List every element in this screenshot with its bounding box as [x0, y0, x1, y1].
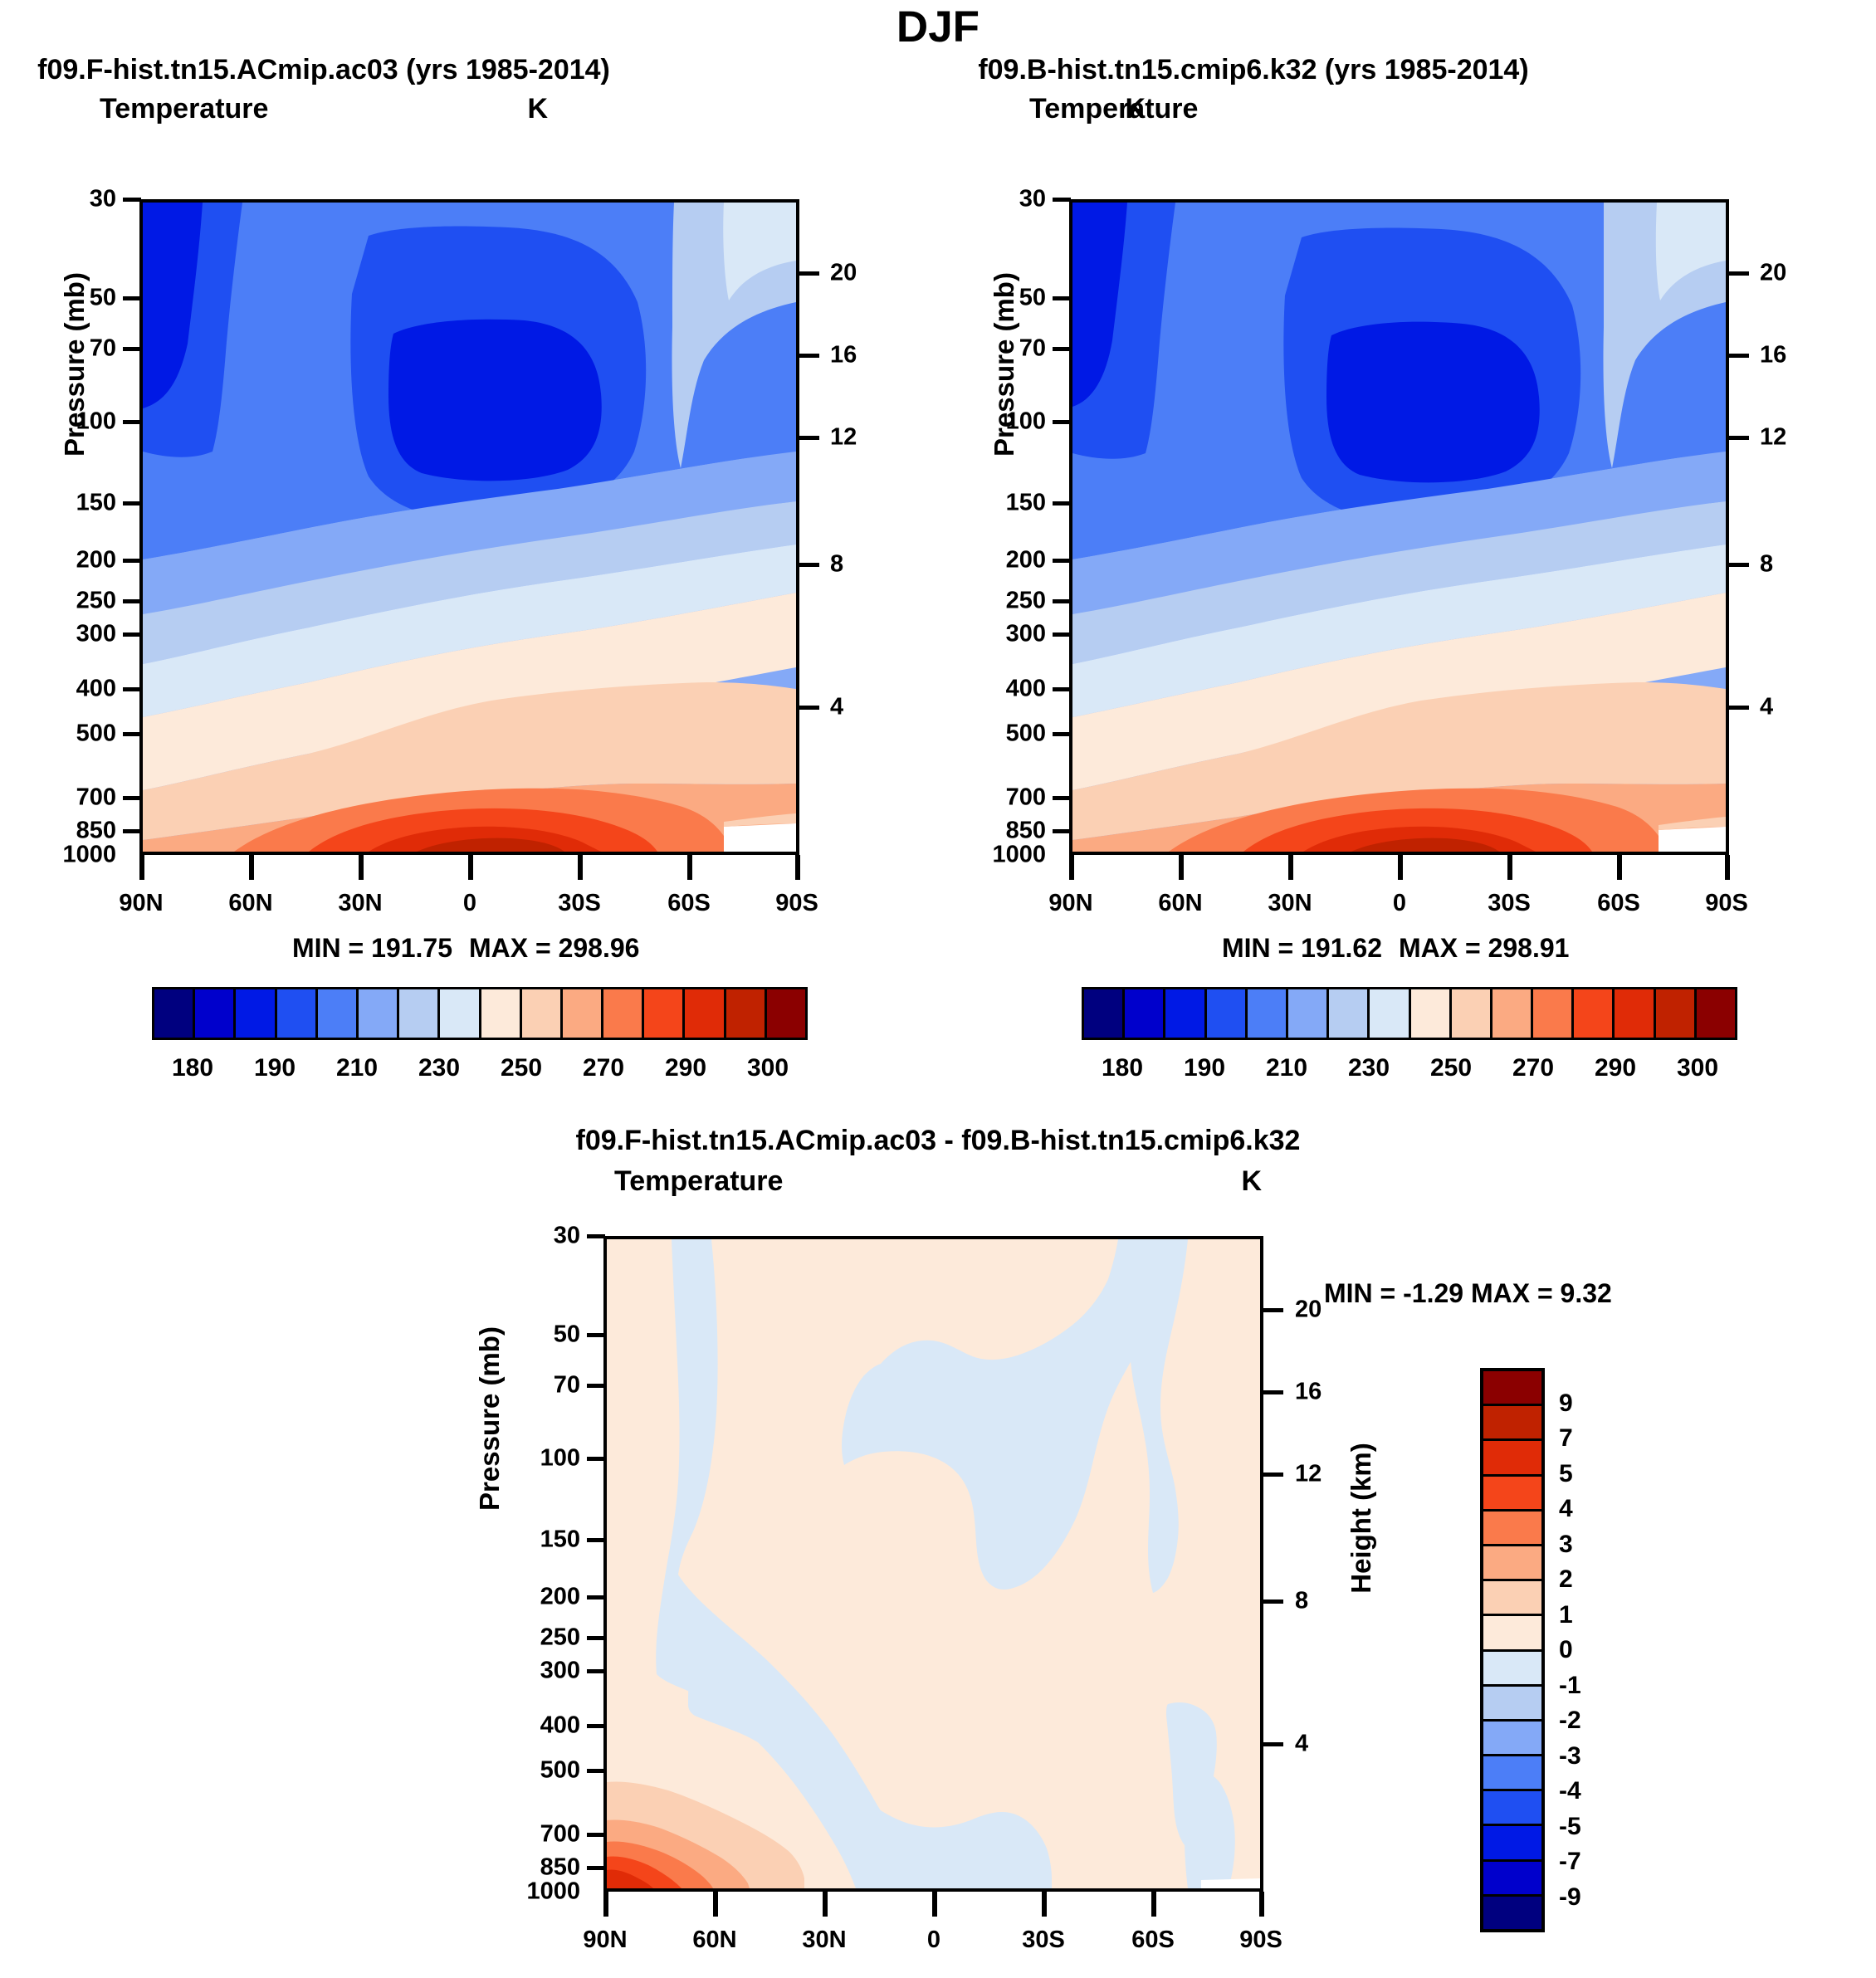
- tick-mark: [1053, 796, 1071, 800]
- tick-mark: [799, 706, 819, 710]
- ticklabel-pressure: 300: [540, 1658, 580, 1685]
- colorbar-ticklabel: -4: [1559, 1777, 1581, 1805]
- tick-mark: [713, 1892, 718, 1917]
- colorbar-segment: [1483, 1826, 1541, 1861]
- colorbar-ticklabel: 1: [1559, 1601, 1573, 1629]
- colorbar-segment: [399, 989, 440, 1038]
- colorbar-ticklabel: 5: [1559, 1460, 1573, 1488]
- panel-right-yaxis-label: Pressure (mb): [989, 240, 1020, 489]
- ticklabel-height: 20: [1760, 260, 1786, 287]
- panel-right-units-label: K: [1125, 93, 1146, 125]
- colorbar-ticklabel: 250: [501, 1054, 542, 1082]
- colorbar-segment: [1329, 989, 1370, 1038]
- colorbar-segment: [1533, 989, 1574, 1038]
- tick-mark: [1069, 855, 1074, 880]
- colorbar-ticklabel: 3: [1559, 1531, 1573, 1559]
- colorbar-segment: [1207, 989, 1248, 1038]
- colorbar-segment: [440, 989, 481, 1038]
- tick-mark: [587, 1669, 605, 1673]
- colorbar-segment: [154, 989, 195, 1038]
- colorbar-segment: [1483, 1371, 1541, 1406]
- panel-left-yaxis-label: Pressure (mb): [59, 240, 90, 489]
- ticklabel-height: 12: [1295, 1461, 1322, 1488]
- colorbar-segment: [1483, 1441, 1541, 1476]
- colorbar-segment: [1125, 989, 1165, 1038]
- tick-mark: [468, 855, 473, 880]
- ticklabel-pressure: 400: [540, 1712, 580, 1740]
- tick-mark: [1263, 1308, 1283, 1312]
- tick-mark: [123, 347, 141, 351]
- colorbar-ticklabel: -5: [1559, 1813, 1581, 1841]
- colorbar-segment: [318, 989, 359, 1038]
- ticklabel-pressure: 250: [1006, 588, 1046, 615]
- ticklabel-pressure: 500: [1006, 720, 1046, 748]
- panel-diff-yaxis-label: Pressure (mb): [474, 1294, 506, 1543]
- colorbar-segment: [1483, 1652, 1541, 1687]
- panel-right-contours: [1072, 203, 1726, 852]
- colorbar-ticklabel: 300: [1677, 1054, 1718, 1082]
- tick-mark: [1053, 296, 1071, 300]
- colorbar-segment: [359, 989, 399, 1038]
- tick-mark: [1053, 420, 1071, 424]
- tick-mark: [123, 829, 141, 833]
- ticklabel-height: 16: [1295, 1379, 1322, 1406]
- panel-diff-height-label: Height (km): [1346, 1394, 1377, 1643]
- colorbar-segment: [1483, 1512, 1541, 1546]
- ticklabel-lat: 90S: [1705, 890, 1748, 917]
- colorbar-segment: [1483, 1581, 1541, 1616]
- ticklabel-height: 20: [830, 260, 857, 287]
- colorbar-ticklabel: -9: [1559, 1883, 1581, 1912]
- colorbar-segment: [563, 989, 603, 1038]
- tick-mark: [1729, 706, 1749, 710]
- colorbar-segment: [1411, 989, 1452, 1038]
- tick-mark: [1042, 1892, 1047, 1917]
- panel-right-colorbar[interactable]: [1082, 987, 1737, 1040]
- colorbar-segment: [1248, 989, 1288, 1038]
- colorbar-ticklabel: 250: [1430, 1054, 1472, 1082]
- colorbar-segment: [1288, 989, 1329, 1038]
- ticklabel-pressure: 150: [1006, 490, 1046, 517]
- tick-mark: [1053, 599, 1071, 603]
- panel-left-colorbar[interactable]: [152, 987, 808, 1040]
- panel-right-plot[interactable]: [1069, 199, 1729, 855]
- colorbar-ticklabel: -1: [1559, 1672, 1581, 1700]
- tick-mark: [123, 420, 141, 424]
- colorbar-ticklabel: 270: [583, 1054, 624, 1082]
- tick-mark: [1259, 1892, 1264, 1917]
- tick-mark: [799, 354, 819, 358]
- tick-mark: [799, 271, 819, 276]
- ticklabel-height: 20: [1295, 1297, 1322, 1324]
- ticklabel-height: 16: [1760, 342, 1786, 369]
- colorbar-segment: [1574, 989, 1615, 1038]
- colorbar-ticklabel: 4: [1559, 1495, 1573, 1523]
- colorbar-segment: [1483, 1406, 1541, 1441]
- colorbar-ticklabel: 9: [1559, 1389, 1573, 1418]
- ticklabel-pressure: 100: [1006, 408, 1046, 436]
- tick-mark: [123, 501, 141, 505]
- colorbar-ticklabel: 190: [254, 1054, 296, 1082]
- ticklabel-pressure: 50: [90, 285, 116, 312]
- tick-mark: [123, 599, 141, 603]
- ticklabel-pressure: 250: [76, 588, 116, 615]
- panel-left-contours: [143, 203, 796, 852]
- colorbar-segment: [1483, 1687, 1541, 1722]
- ticklabel-pressure: 70: [1019, 335, 1046, 363]
- ticklabel-pressure: 400: [1006, 676, 1046, 703]
- tick-mark: [123, 559, 141, 563]
- ticklabel-lat: 0: [463, 890, 476, 917]
- colorbar-ticklabel: 300: [747, 1054, 789, 1082]
- ticklabel-lat: 90N: [583, 1927, 627, 1954]
- colorbar-ticklabel: 290: [665, 1054, 706, 1082]
- tick-mark: [1725, 855, 1730, 880]
- colorbar-ticklabel: 7: [1559, 1424, 1573, 1453]
- tick-mark: [1288, 855, 1293, 880]
- ticklabel-pressure: 50: [554, 1321, 580, 1349]
- tick-mark: [1263, 1473, 1283, 1477]
- figure-suptitle: DJF: [896, 2, 980, 52]
- ticklabel-pressure: 70: [554, 1372, 580, 1399]
- ticklabel-lat: 60S: [1131, 1927, 1175, 1954]
- ticklabel-pressure: 100: [76, 408, 116, 436]
- tick-mark: [1151, 1892, 1156, 1917]
- colorbar-segment: [644, 989, 685, 1038]
- colorbar-segment: [1656, 989, 1697, 1038]
- tick-mark: [123, 632, 141, 637]
- colorbar-segment: [726, 989, 767, 1038]
- ticklabel-pressure: 500: [76, 720, 116, 748]
- panel-left-min-label: MIN = 191.75: [292, 933, 452, 964]
- colorbar-segment: [1615, 989, 1655, 1038]
- tick-mark: [249, 855, 254, 880]
- tick-mark: [359, 855, 364, 880]
- tick-mark: [1053, 632, 1071, 637]
- ticklabel-height: 8: [1760, 551, 1773, 579]
- tick-mark: [1053, 687, 1071, 691]
- ticklabel-pressure: 1000: [992, 842, 1046, 869]
- ticklabel-height: 4: [1295, 1731, 1308, 1758]
- panel-left-units-label: K: [527, 93, 548, 125]
- ticklabel-lat: 90S: [1239, 1927, 1282, 1954]
- ticklabel-lat: 30N: [338, 890, 382, 917]
- colorbar-ticklabel: -2: [1559, 1707, 1581, 1735]
- panel-right-title: f09.B-hist.tn15.cmip6.k32 (yrs 1985-2014…: [978, 54, 1528, 86]
- tick-mark: [123, 296, 141, 300]
- tick-mark: [587, 1724, 605, 1728]
- tick-mark: [1179, 855, 1184, 880]
- ticklabel-pressure: 200: [540, 1584, 580, 1611]
- tick-mark: [1263, 1742, 1283, 1746]
- ticklabel-lat: 30N: [1268, 890, 1312, 917]
- colorbar-segment: [1492, 989, 1533, 1038]
- tick-mark: [1053, 829, 1071, 833]
- panel-diff-title: f09.F-hist.tn15.ACmip.ac03 - f09.B-hist.…: [576, 1125, 1301, 1157]
- panel-diff-plot[interactable]: [603, 1236, 1263, 1892]
- colorbar-segment: [1370, 989, 1410, 1038]
- ticklabel-lat: 30S: [558, 890, 601, 917]
- tick-mark: [587, 1636, 605, 1640]
- ticklabel-pressure: 150: [76, 490, 116, 517]
- colorbar-segment: [236, 989, 276, 1038]
- tick-mark: [1053, 732, 1071, 736]
- ticklabel-lat: 90N: [119, 890, 163, 917]
- colorbar-segment: [481, 989, 522, 1038]
- ticklabel-pressure: 250: [540, 1624, 580, 1652]
- ticklabel-pressure: 30: [1019, 186, 1046, 213]
- colorbar-segment: [1483, 1756, 1541, 1791]
- ticklabel-pressure: 500: [540, 1757, 580, 1785]
- ticklabel-pressure: 200: [1006, 547, 1046, 574]
- tick-mark: [123, 796, 141, 800]
- tick-mark: [1729, 271, 1749, 276]
- tick-mark: [123, 687, 141, 691]
- ticklabel-pressure: 1000: [526, 1878, 580, 1906]
- ticklabel-pressure: 100: [540, 1445, 580, 1473]
- colorbar-ticklabel: -7: [1559, 1848, 1581, 1876]
- colorbar-ticklabel: 290: [1595, 1054, 1636, 1082]
- tick-mark: [587, 1769, 605, 1773]
- tick-mark: [1729, 436, 1749, 440]
- tick-mark: [139, 855, 144, 880]
- ticklabel-lat: 0: [1393, 890, 1406, 917]
- tick-mark: [123, 198, 141, 202]
- colorbar-ticklabel: 270: [1512, 1054, 1554, 1082]
- tick-mark: [1507, 855, 1512, 880]
- colorbar-segment: [277, 989, 318, 1038]
- colorbar-segment: [195, 989, 236, 1038]
- colorbar-segment: [1697, 989, 1735, 1038]
- ticklabel-pressure: 70: [90, 335, 116, 363]
- panel-right-variable-label: Temperature: [1029, 93, 1198, 125]
- colorbar-ticklabel: 2: [1559, 1565, 1573, 1594]
- ticklabel-pressure: 30: [554, 1223, 580, 1250]
- ticklabel-lat: 0: [927, 1927, 940, 1954]
- ticklabel-height: 4: [830, 694, 843, 721]
- tick-mark: [795, 855, 800, 880]
- tick-mark: [799, 436, 819, 440]
- ticklabel-height: 4: [1760, 694, 1773, 721]
- colorbar-segment: [685, 989, 725, 1038]
- colorbar-ticklabel: 190: [1184, 1054, 1225, 1082]
- ticklabel-lat: 90S: [775, 890, 818, 917]
- panel-diff-colorbar[interactable]: [1480, 1368, 1545, 1932]
- colorbar-ticklabel: 210: [1266, 1054, 1307, 1082]
- tick-mark: [587, 1866, 605, 1870]
- ticklabel-pressure: 400: [76, 676, 116, 703]
- tick-mark: [578, 855, 583, 880]
- tick-mark: [932, 1892, 937, 1917]
- panel-diff-variable-label: Temperature: [614, 1165, 783, 1198]
- tick-mark: [1053, 347, 1071, 351]
- tick-mark: [587, 1595, 605, 1599]
- tick-mark: [823, 1892, 828, 1917]
- ticklabel-lat: 90N: [1048, 890, 1092, 917]
- colorbar-segment: [603, 989, 644, 1038]
- colorbar-ticklabel: 230: [1348, 1054, 1390, 1082]
- tick-mark: [687, 855, 692, 880]
- tick-mark: [1053, 559, 1071, 563]
- tick-mark: [587, 1457, 605, 1461]
- panel-left-max-label: MAX = 298.96: [469, 933, 639, 964]
- tick-mark: [1729, 563, 1749, 567]
- ticklabel-lat: 30N: [802, 1927, 846, 1954]
- panel-right-max-label: MAX = 298.91: [1399, 933, 1569, 964]
- colorbar-segment: [1483, 1546, 1541, 1581]
- panel-diff-contours: [607, 1239, 1260, 1888]
- panel-right-min-label: MIN = 191.62: [1222, 933, 1382, 964]
- ticklabel-pressure: 150: [540, 1526, 580, 1554]
- ticklabel-pressure: 50: [1019, 285, 1046, 312]
- colorbar-segment: [1452, 989, 1492, 1038]
- panel-left-variable-label: Temperature: [100, 93, 268, 125]
- ticklabel-height: 8: [830, 551, 843, 579]
- tick-mark: [587, 1384, 605, 1388]
- colorbar-ticklabel: -3: [1559, 1742, 1581, 1770]
- ticklabel-height: 16: [830, 342, 857, 369]
- colorbar-segment: [1483, 1791, 1541, 1826]
- tick-mark: [123, 732, 141, 736]
- ticklabel-lat: 60N: [692, 1927, 736, 1954]
- colorbar-segment: [1483, 1722, 1541, 1756]
- ticklabel-pressure: 300: [76, 621, 116, 648]
- ticklabel-lat: 60N: [1158, 890, 1202, 917]
- colorbar-ticklabel: 210: [336, 1054, 378, 1082]
- panel-diff-minmax-label: MIN = -1.29 MAX = 9.32: [1324, 1278, 1612, 1309]
- colorbar-segment: [1165, 989, 1206, 1038]
- tick-mark: [1053, 501, 1071, 505]
- ticklabel-lat: 30S: [1022, 1927, 1065, 1954]
- tick-mark: [1053, 198, 1071, 202]
- tick-mark: [587, 1538, 605, 1542]
- panel-diff-units-label: K: [1241, 1165, 1262, 1198]
- tick-mark: [587, 1234, 605, 1238]
- ticklabel-height: 12: [830, 424, 857, 452]
- colorbar-segment: [522, 989, 563, 1038]
- ticklabel-height: 12: [1760, 424, 1786, 452]
- ticklabel-lat: 30S: [1488, 890, 1531, 917]
- ticklabel-pressure: 700: [540, 1821, 580, 1849]
- tick-mark: [1263, 1390, 1283, 1394]
- tick-mark: [587, 1833, 605, 1837]
- ticklabel-pressure: 30: [90, 186, 116, 213]
- colorbar-ticklabel: 180: [172, 1054, 213, 1082]
- tick-mark: [1398, 855, 1403, 880]
- ticklabel-lat: 60S: [1597, 890, 1640, 917]
- colorbar-ticklabel: 0: [1559, 1636, 1573, 1664]
- ticklabel-pressure: 700: [1006, 784, 1046, 812]
- colorbar-segment: [1483, 1477, 1541, 1512]
- ticklabel-lat: 60N: [228, 890, 272, 917]
- colorbar-segment: [1084, 989, 1125, 1038]
- tick-mark: [1617, 855, 1622, 880]
- tick-mark: [1263, 1599, 1283, 1604]
- panel-left-title: f09.F-hist.tn15.ACmip.ac03 (yrs 1985-201…: [37, 54, 610, 86]
- colorbar-ticklabel: 230: [418, 1054, 460, 1082]
- ticklabel-pressure: 1000: [62, 842, 116, 869]
- ticklabel-lat: 60S: [667, 890, 711, 917]
- panel-left-plot[interactable]: [139, 199, 799, 855]
- colorbar-ticklabel: 180: [1102, 1054, 1143, 1082]
- tick-mark: [799, 563, 819, 567]
- colorbar-segment: [1483, 1862, 1541, 1897]
- colorbar-segment: [767, 989, 805, 1038]
- ticklabel-height: 8: [1295, 1588, 1308, 1615]
- tick-mark: [587, 1333, 605, 1337]
- ticklabel-pressure: 700: [76, 784, 116, 812]
- tick-mark: [603, 1892, 608, 1917]
- colorbar-segment: [1483, 1616, 1541, 1651]
- tick-mark: [1729, 354, 1749, 358]
- ticklabel-pressure: 200: [76, 547, 116, 574]
- colorbar-segment: [1483, 1897, 1541, 1929]
- ticklabel-pressure: 300: [1006, 621, 1046, 648]
